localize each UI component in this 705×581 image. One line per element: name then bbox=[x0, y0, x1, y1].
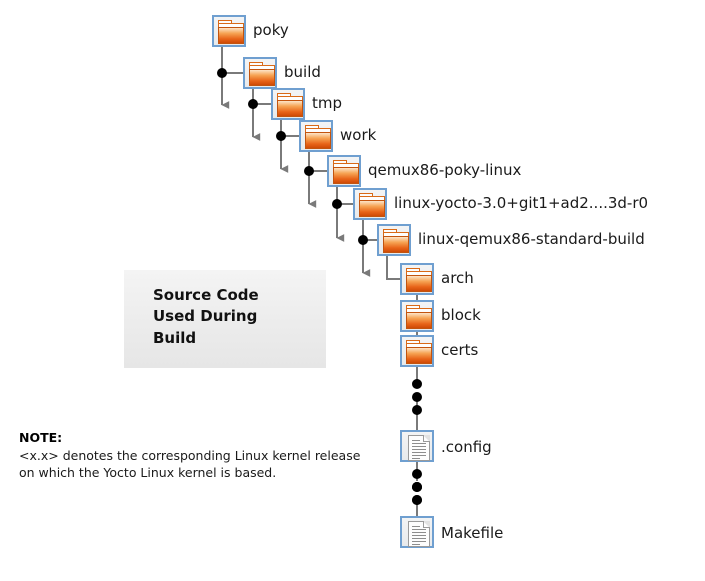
node-config[interactable] bbox=[400, 430, 434, 462]
node-work[interactable] bbox=[299, 120, 333, 152]
node-poky[interactable] bbox=[212, 15, 246, 47]
node-label-linux-yocto: linux-yocto-3.0+git1+ad2....3d-r0 bbox=[394, 196, 648, 211]
folder-icon bbox=[353, 188, 387, 220]
node-label-tmp: tmp bbox=[312, 96, 342, 111]
node-build[interactable] bbox=[243, 57, 277, 89]
folder-icon bbox=[243, 57, 277, 89]
node-certs[interactable] bbox=[400, 335, 434, 367]
node-label-linux-qemux86-standard-build: linux-qemux86-standard-build bbox=[418, 232, 645, 247]
callout-text: Source Code Used During Build bbox=[153, 285, 259, 349]
folder-icon bbox=[271, 88, 305, 120]
source-code-callout-box: Source Code Used During Build bbox=[124, 270, 326, 368]
node-arch[interactable] bbox=[400, 263, 434, 295]
file-icon bbox=[400, 516, 434, 548]
diagram-canvas: poky build tmp work qemux86-poky-linux l… bbox=[0, 0, 705, 581]
node-label-config: .config bbox=[441, 440, 492, 455]
node-label-work: work bbox=[340, 128, 376, 143]
folder-icon bbox=[377, 224, 411, 256]
node-tmp[interactable] bbox=[271, 88, 305, 120]
node-label-makefile: Makefile bbox=[441, 526, 503, 541]
folder-icon bbox=[400, 300, 434, 332]
folder-icon bbox=[400, 335, 434, 367]
node-makefile[interactable] bbox=[400, 516, 434, 548]
node-label-block: block bbox=[441, 308, 481, 323]
node-label-build: build bbox=[284, 65, 321, 80]
node-block[interactable] bbox=[400, 300, 434, 332]
node-label-arch: arch bbox=[441, 271, 474, 286]
note-block: NOTE: <x.x> denotes the corresponding Li… bbox=[19, 430, 379, 481]
node-label-certs: certs bbox=[441, 343, 478, 358]
node-label-poky: poky bbox=[253, 23, 289, 38]
folder-icon bbox=[299, 120, 333, 152]
folder-icon bbox=[400, 263, 434, 295]
node-qemux86-poky-linux[interactable] bbox=[327, 155, 361, 187]
connector-lines bbox=[0, 0, 705, 581]
node-label-qemux86-poky-linux: qemux86-poky-linux bbox=[368, 163, 521, 178]
node-linux-qemux86-standard-build[interactable] bbox=[377, 224, 411, 256]
folder-icon bbox=[212, 15, 246, 47]
folder-icon bbox=[327, 155, 361, 187]
note-title: NOTE: bbox=[19, 430, 379, 447]
node-linux-yocto[interactable] bbox=[353, 188, 387, 220]
note-body: <x.x> denotes the corresponding Linux ke… bbox=[19, 447, 379, 482]
file-icon bbox=[400, 430, 434, 462]
